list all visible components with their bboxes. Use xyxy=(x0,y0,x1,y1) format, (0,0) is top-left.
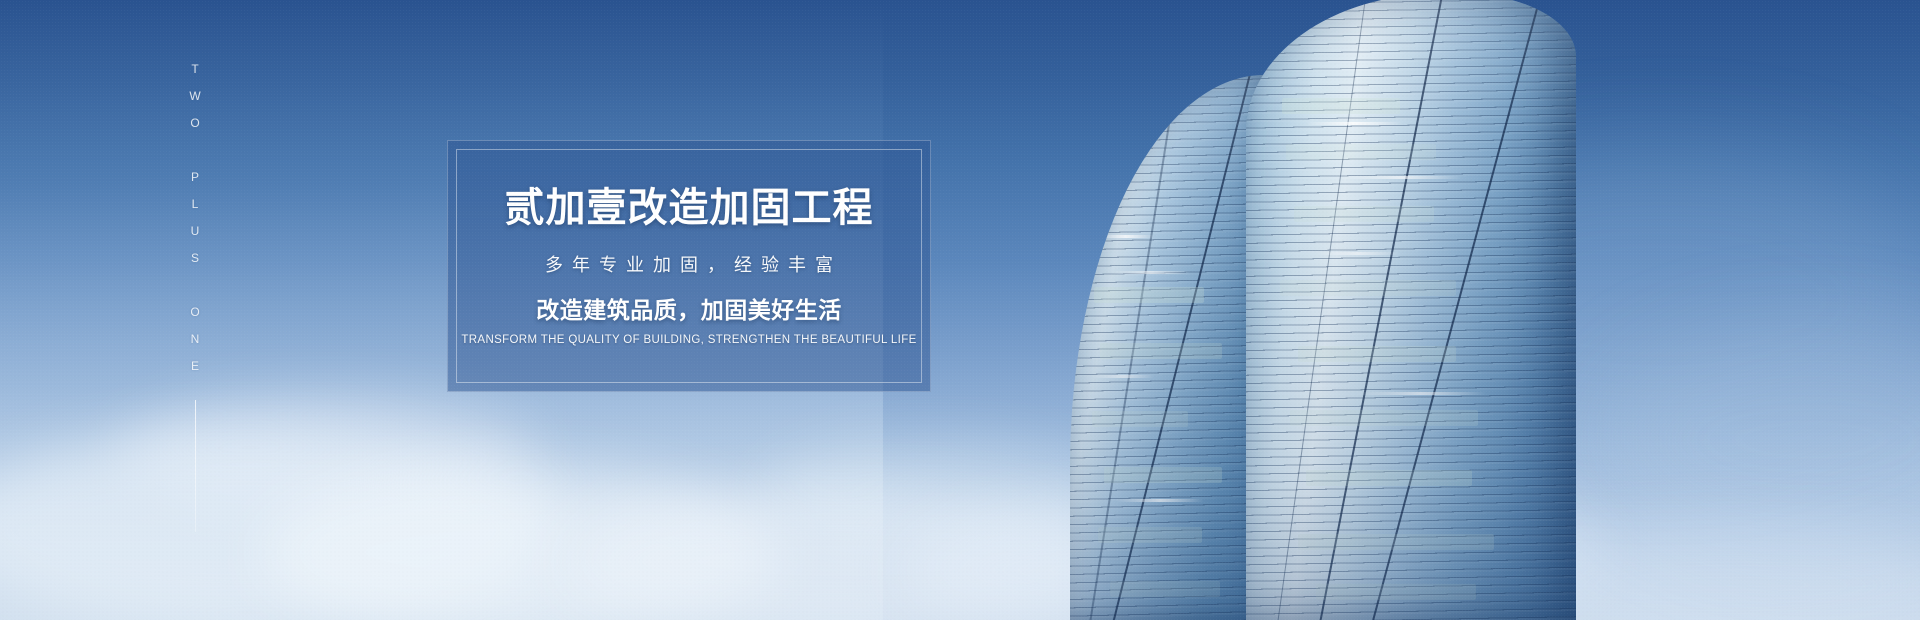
right-tower-shading xyxy=(1246,0,1576,620)
vertical-divider-line xyxy=(195,400,196,532)
skyscraper-group xyxy=(1060,0,1920,620)
hero-text-panel-inner-border: 贰加壹改造加固工程 多年专业加固，经验丰富 改造建筑品质，加固美好生活 TRAN… xyxy=(456,149,922,383)
left-tower-shading xyxy=(1070,75,1270,620)
subtitle: 多年专业加固，经验丰富 xyxy=(545,255,842,277)
hero-banner: TWO PLUS ONE 贰加壹改造加固工程 多年专业加固，经验丰富 改造建筑品… xyxy=(0,0,1920,620)
tagline: 改造建筑品质，加固美好生活 xyxy=(536,297,842,325)
left-tower xyxy=(1070,75,1270,620)
tagline-english: TRANSFORM THE QUALITY OF BUILDING, STREN… xyxy=(461,334,916,348)
page-title: 贰加壹改造加固工程 xyxy=(505,186,874,231)
vertical-brand: TWO PLUS ONE xyxy=(178,62,212,532)
right-tower xyxy=(1246,0,1576,620)
vertical-brand-label: TWO PLUS ONE xyxy=(189,62,201,386)
hero-text-panel: 贰加壹改造加固工程 多年专业加固，经验丰富 改造建筑品质，加固美好生活 TRAN… xyxy=(447,140,931,392)
